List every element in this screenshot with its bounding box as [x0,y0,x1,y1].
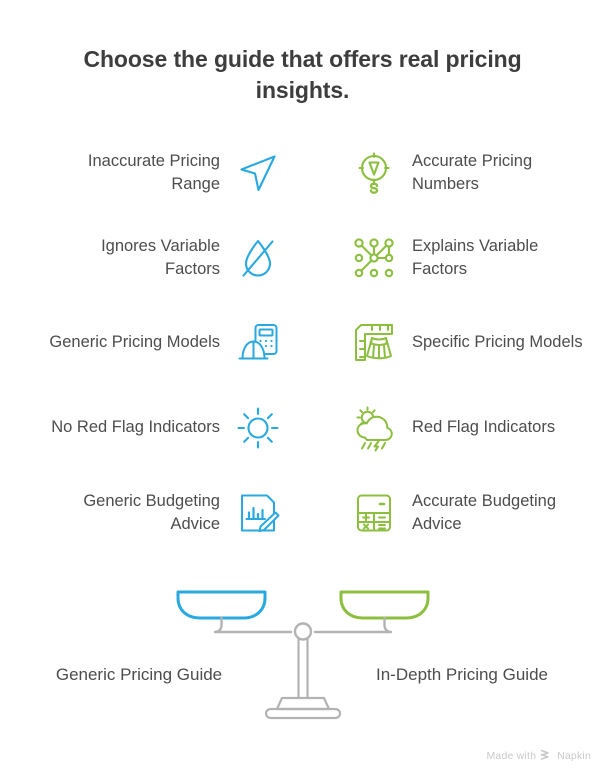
storm-cloud-lightning-icon [350,404,398,452]
indepth-guide-column: Accurate Pricing Numbers [350,142,605,572]
list-item[interactable]: Ignores Variable Factors [14,227,282,289]
list-item-label: Generic Budgeting Advice [45,490,220,537]
list-item-label: Accurate Pricing Numbers [412,150,587,197]
left-pan [178,592,265,618]
list-item[interactable]: Generic Pricing Models [14,312,282,374]
calculator-icon [350,489,398,537]
watermark-brand: Napkin [557,750,591,762]
list-item-label: Explains Variable Factors [412,235,587,282]
list-item[interactable]: Red Flag Indicators [350,397,605,459]
list-item-label: Inaccurate Pricing Range [45,150,220,197]
list-item-label: Ignores Variable Factors [45,235,220,282]
comparison-columns: Inaccurate Pricing Range Ignores Variabl… [0,142,605,572]
generic-guide-heading: Generic Pricing Guide [9,665,269,685]
balance-scale-icon [0,580,605,720]
network-nodes-icon [350,234,398,282]
list-item[interactable]: Inaccurate Pricing Range [14,142,282,204]
cursor-arrow-icon [234,149,282,197]
page-title: Choose the guide that offers real pricin… [52,44,553,106]
list-item[interactable]: Accurate Pricing Numbers [350,142,605,204]
list-item[interactable]: No Red Flag Indicators [14,397,282,459]
droplet-slash-icon [234,234,282,282]
watermark-text: Made with [486,750,536,762]
document-chart-pencil-icon [234,489,282,537]
list-item[interactable]: Specific Pricing Models [350,312,605,374]
hardhat-calculator-icon [234,319,282,367]
list-item-label: Generic Pricing Models [49,331,220,354]
list-item-label: No Red Flag Indicators [51,416,220,439]
sun-icon [234,404,282,452]
napkin-logo-icon [540,749,553,763]
list-item-label: Accurate Budgeting Advice [412,490,587,537]
ruler-skirt-icon [350,319,398,367]
list-item[interactable]: Explains Variable Factors [350,227,605,289]
compass-icon [350,149,398,197]
list-item-label: Specific Pricing Models [412,331,583,354]
list-item[interactable]: Generic Budgeting Advice [14,482,282,544]
indepth-guide-heading: In-Depth Pricing Guide [332,665,592,685]
list-item-label: Red Flag Indicators [412,416,555,439]
list-item[interactable]: Accurate Budgeting Advice [350,482,605,544]
right-pan [341,592,428,618]
generic-guide-column: Inaccurate Pricing Range Ignores Variabl… [14,142,282,572]
watermark: Made with Napkin [486,749,591,763]
